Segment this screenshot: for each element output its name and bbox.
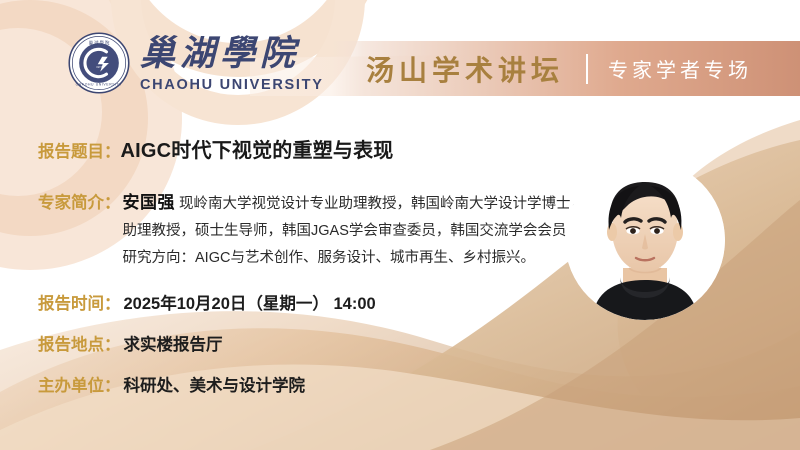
university-logo-block: 巢 湖 學 院 CHAOHU UNIVERSITY 1977 巢湖學院 CHAO… bbox=[68, 32, 324, 94]
speaker-bio-line-3: 研究方向：AIGC与艺术创作、服务设计、城市再生、乡村振兴。 bbox=[123, 245, 586, 272]
svg-text:1977: 1977 bbox=[96, 66, 102, 69]
report-location-value: 求实楼报告厅 bbox=[124, 331, 223, 355]
report-title-value: AIGC时代下视觉的重塑与表现 bbox=[121, 134, 394, 163]
university-name-en: CHAOHU UNIVERSITY bbox=[140, 78, 324, 93]
poster-content: 报告题目： AIGC时代下视觉的重塑与表现 专家简介： 安国强现岭南大学视觉设计… bbox=[38, 134, 578, 413]
forum-banner: 汤山学术讲坛 专家学者专场 bbox=[330, 41, 800, 96]
speaker-bio-text-1: 现岭南大学视觉设计专业助理教授，韩国岭南大学设计学博士， bbox=[179, 196, 585, 212]
report-title-label: 报告题目： bbox=[38, 138, 121, 162]
speaker-bio-line-2: 助理教授，硕士生导师，韩国JGAS学会审查委员，韩国交流学会会员。 bbox=[123, 218, 586, 245]
report-location-label: 报告地点： bbox=[38, 331, 121, 355]
speaker-portrait bbox=[565, 160, 725, 320]
speaker-bio-line-1: 安国强现岭南大学视觉设计专业助理教授，韩国岭南大学设计学博士， bbox=[123, 189, 586, 218]
report-title-row: 报告题目： AIGC时代下视觉的重塑与表现 bbox=[38, 134, 578, 163]
speaker-bio-label: 专家简介： bbox=[38, 189, 121, 213]
speaker-name: 安国强 bbox=[123, 193, 176, 212]
report-location-row: 报告地点： 求实楼报告厅 bbox=[38, 331, 578, 355]
university-name-group: 巢湖學院 CHAOHU UNIVERSITY bbox=[140, 34, 324, 93]
organizer-row: 主办单位： 科研处、美术与设计学院 bbox=[38, 372, 578, 396]
chaohu-university-seal-icon: 巢 湖 學 院 CHAOHU UNIVERSITY 1977 bbox=[68, 32, 130, 94]
speaker-bio-row: 专家简介： 安国强现岭南大学视觉设计专业助理教授，韩国岭南大学设计学博士， 助理… bbox=[38, 189, 578, 272]
poster-canvas: 巢 湖 學 院 CHAOHU UNIVERSITY 1977 巢湖學院 CHAO… bbox=[0, 0, 800, 450]
university-name-cn: 巢湖學院 bbox=[140, 36, 324, 71]
banner-main-title: 汤山学术讲坛 bbox=[366, 49, 564, 89]
speaker-bio-body: 安国强现岭南大学视觉设计专业助理教授，韩国岭南大学设计学博士， 助理教授，硕士生… bbox=[123, 189, 586, 272]
svg-text:CHAOHU UNIVERSITY: CHAOHU UNIVERSITY bbox=[76, 82, 123, 86]
banner-sub-title: 专家学者专场 bbox=[608, 54, 752, 83]
report-time-row: 报告时间： 2025年10月20日（星期一） 14:00 bbox=[38, 290, 578, 314]
svg-text:巢 湖 學 院: 巢 湖 學 院 bbox=[89, 39, 110, 46]
report-time-value: 2025年10月20日（星期一） 14:00 bbox=[124, 290, 376, 314]
organizer-value: 科研处、美术与设计学院 bbox=[124, 372, 306, 396]
banner-divider bbox=[586, 54, 588, 84]
organizer-label: 主办单位： bbox=[38, 372, 121, 396]
report-time-label: 报告时间： bbox=[38, 290, 121, 314]
